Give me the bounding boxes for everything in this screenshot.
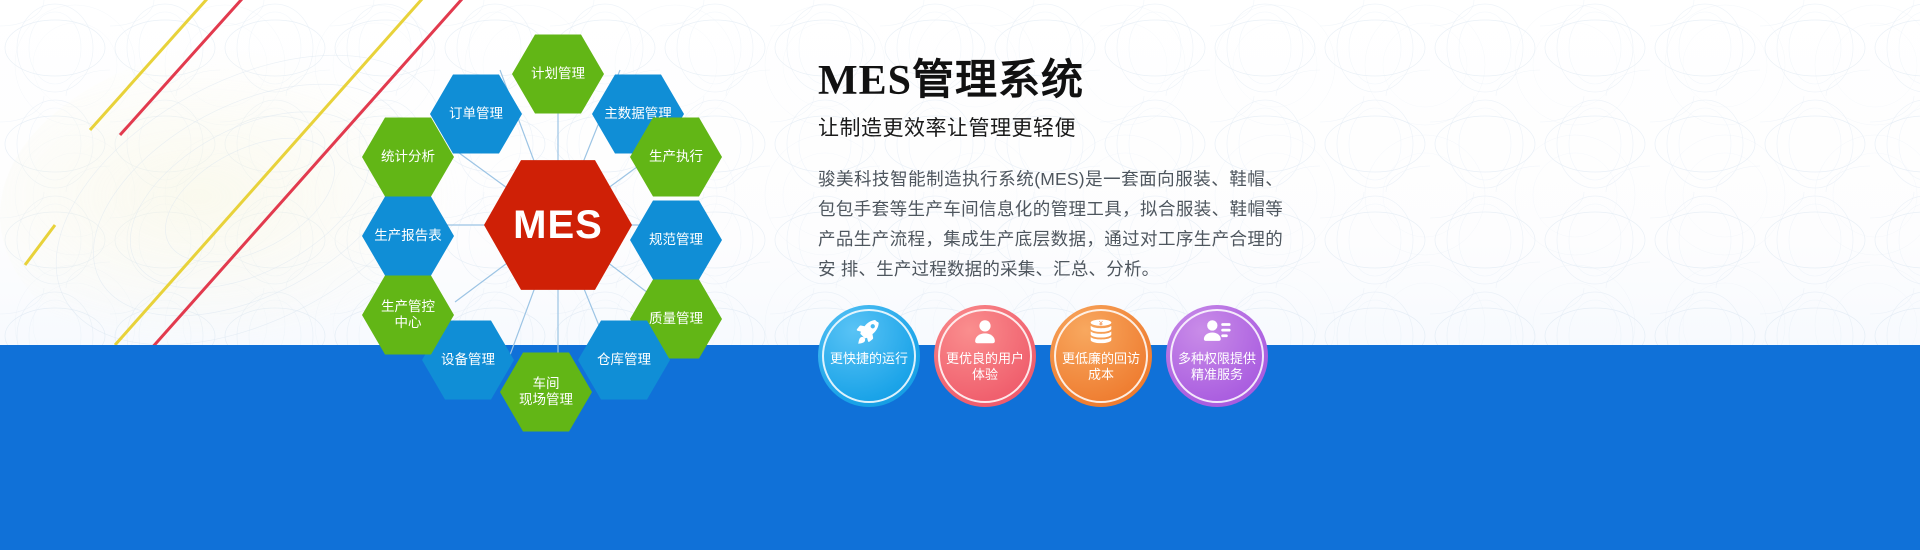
hex-label: 设备管理 bbox=[435, 352, 501, 368]
hex-label: 生产管控中心 bbox=[375, 299, 441, 330]
badge-faster-operation[interactable]: 更快捷的运行 bbox=[818, 305, 920, 407]
badge-better-user-experience[interactable]: 更优良的用户体验 bbox=[934, 305, 1036, 407]
hex-label: 生产报告表 bbox=[368, 228, 448, 244]
badge-label: 多种权限提供精准服务 bbox=[1171, 351, 1263, 384]
hex-label: 规范管理 bbox=[643, 232, 709, 248]
content-column: MES管理系统 让制造更效率让管理更轻便 骏美科技智能制造执行系统(MES)是一… bbox=[818, 58, 1338, 285]
hex-label: 车间现场管理 bbox=[513, 376, 579, 407]
feature-badge-row: 更快捷的运行 更优良的用户体验 ¥ 更低廉的回访成本 bbox=[818, 305, 1438, 415]
mes-banner: MES 计划管理 主数据管理 生产执行 规范管理 质量管理 仓库管理 车间现场管… bbox=[0, 0, 1920, 550]
hex-label: 生产执行 bbox=[643, 149, 709, 165]
svg-text:¥: ¥ bbox=[1099, 320, 1103, 327]
user-icon bbox=[970, 317, 1000, 347]
hex-label: MES bbox=[507, 202, 609, 248]
badge-label: 更优良的用户体验 bbox=[939, 351, 1031, 384]
description-paragraph: 骏美科技智能制造执行系统(MES)是一套面向服装、鞋帽、包包手套等生产车间信息化… bbox=[818, 164, 1283, 284]
hex-label: 仓库管理 bbox=[591, 352, 657, 368]
badge-multi-permission-service[interactable]: 多种权限提供精准服务 bbox=[1166, 305, 1268, 407]
badge-label: 更低廉的回访成本 bbox=[1055, 351, 1147, 384]
hex-label: 统计分析 bbox=[375, 149, 441, 165]
hex-label: 订单管理 bbox=[443, 106, 509, 122]
hex-label: 计划管理 bbox=[525, 66, 591, 82]
badge-label: 更快捷的运行 bbox=[823, 351, 915, 367]
money-icon: ¥ bbox=[1086, 317, 1116, 347]
rocket-icon bbox=[854, 317, 884, 347]
hex-label: 质量管理 bbox=[643, 311, 709, 327]
page-subtitle: 让制造更效率让管理更轻便 bbox=[818, 112, 1338, 142]
page-title: MES管理系统 bbox=[818, 58, 1338, 104]
user-list-icon bbox=[1202, 317, 1232, 347]
mes-hexagon-diagram: MES 计划管理 主数据管理 生产执行 规范管理 质量管理 仓库管理 车间现场管… bbox=[330, 10, 790, 440]
badge-lower-revisit-cost[interactable]: ¥ 更低廉的回访成本 bbox=[1050, 305, 1152, 407]
